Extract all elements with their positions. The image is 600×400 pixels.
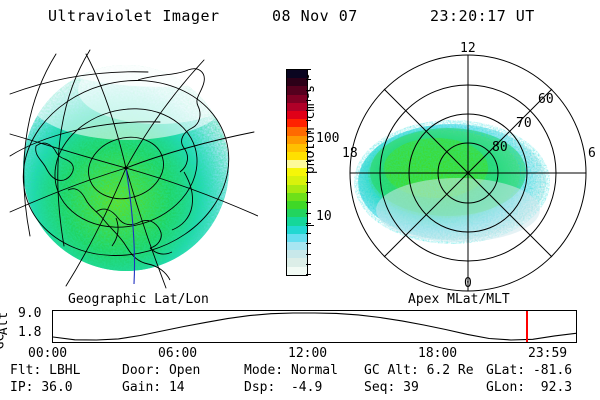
status-dsp-value: -4.9 [291,380,322,395]
orbit-y-label-alt: Alt [0,312,11,335]
status-mode: Mode: Normal [244,363,338,378]
left-panel-caption: Geographic Lat/Lon [68,292,209,307]
status-flt-value: LBHL [49,363,80,378]
current-time-marker [526,311,528,342]
geographic-image-panel [8,40,258,295]
mlat-ring-label-60: 60 [538,94,554,106]
status-door: Door: Open [122,363,200,378]
status-ip-label: IP: [10,380,33,395]
status-ip: IP: 36.0 [10,380,73,395]
orbit-altitude-plot: Alt GC 9.0 1.8 00:00 06:00 12:00 18:00 2… [0,306,600,356]
magnetic-polar-panel: 12 6 0 18 60 70 80 [340,40,600,295]
status-mode-value: Normal [291,363,338,378]
status-door-label: Door: [122,363,161,378]
header-bar: Ultraviolet Imager 08 Nov 07 23:20:17 UT [0,6,600,30]
observation-date: 08 Nov 07 [272,6,358,26]
observation-time: 23:20:17 UT [430,6,535,26]
orbit-xtick-0600: 06:00 [158,346,197,361]
mlt-label-18: 18 [342,148,358,160]
orbit-xtick-2359: 23:59 [528,346,567,361]
status-gain-value: 14 [169,380,185,395]
status-mode-label: Mode: [244,363,283,378]
status-flt: Flt: LBHL [10,363,80,378]
status-ip-value: 36.0 [41,380,72,395]
status-glat-label: GLat: [486,363,525,378]
mlt-spokes [350,55,586,291]
mlat-mlt-aurora-plot [340,40,600,295]
geographic-aurora-image [8,40,258,295]
status-seq: Seq: 39 [364,380,419,395]
orbit-xtick-1200: 12:00 [288,346,327,361]
orbit-ytick-1.8: 1.8 [18,328,41,338]
colorbar-ticks [306,69,314,276]
status-gc-alt-label: GC Alt: [364,363,419,378]
status-door-value: Open [169,363,200,378]
status-glon: GLon: 92.3 [486,380,572,395]
status-glon-label: GLon: [486,380,525,395]
status-seq-label: Seq: [364,380,395,395]
mlat-ring-label-80: 80 [492,142,508,154]
orbit-y-axis-label: Alt GC [2,312,16,352]
mlt-label-12: 12 [460,43,476,55]
status-glat: GLat: -81.6 [486,363,572,378]
orbit-plot-frame [52,310,577,343]
orbit-xtick-1800: 18:00 [418,346,457,361]
right-panel-caption: Apex MLat/MLT [408,292,510,307]
colorbar-tick-label-10: 10 [316,212,332,222]
mlt-label-0: 0 [464,278,472,290]
status-glon-value: 92.3 [541,380,572,395]
status-glat-value: -81.6 [533,363,572,378]
orbit-altitude-curve [53,311,576,342]
colorbar: photon cm-2s-1 100 10 [255,60,350,295]
status-gain: Gain: 14 [122,380,185,395]
status-gc-alt-value: 6.2 Re [427,363,474,378]
status-dsp: Dsp: -4.9 [244,380,322,395]
status-dsp-label: Dsp: [244,380,275,395]
orbit-y-label-gc: GC [0,334,7,350]
mlt-label-6: 6 [588,148,596,160]
mlat-ring-label-70: 70 [516,118,532,130]
instrument-title: Ultraviolet Imager [48,6,220,26]
status-flt-label: Flt: [10,363,41,378]
ultraviolet-imager-display: Ultraviolet Imager 08 Nov 07 23:20:17 UT [0,0,600,400]
status-gain-label: Gain: [122,380,161,395]
pole-marker [124,166,127,169]
colorbar-gradient [286,69,308,276]
orbit-xtick-0000: 00:00 [28,346,67,361]
status-bar: Flt: LBHL Door: Open Mode: Normal GC Alt… [0,363,600,399]
status-gc-alt: GC Alt: 6.2 Re [364,363,474,378]
status-seq-value: 39 [403,380,419,395]
colorbar-tick-label-100: 100 [316,134,339,144]
orbit-ytick-9: 9.0 [18,309,41,319]
